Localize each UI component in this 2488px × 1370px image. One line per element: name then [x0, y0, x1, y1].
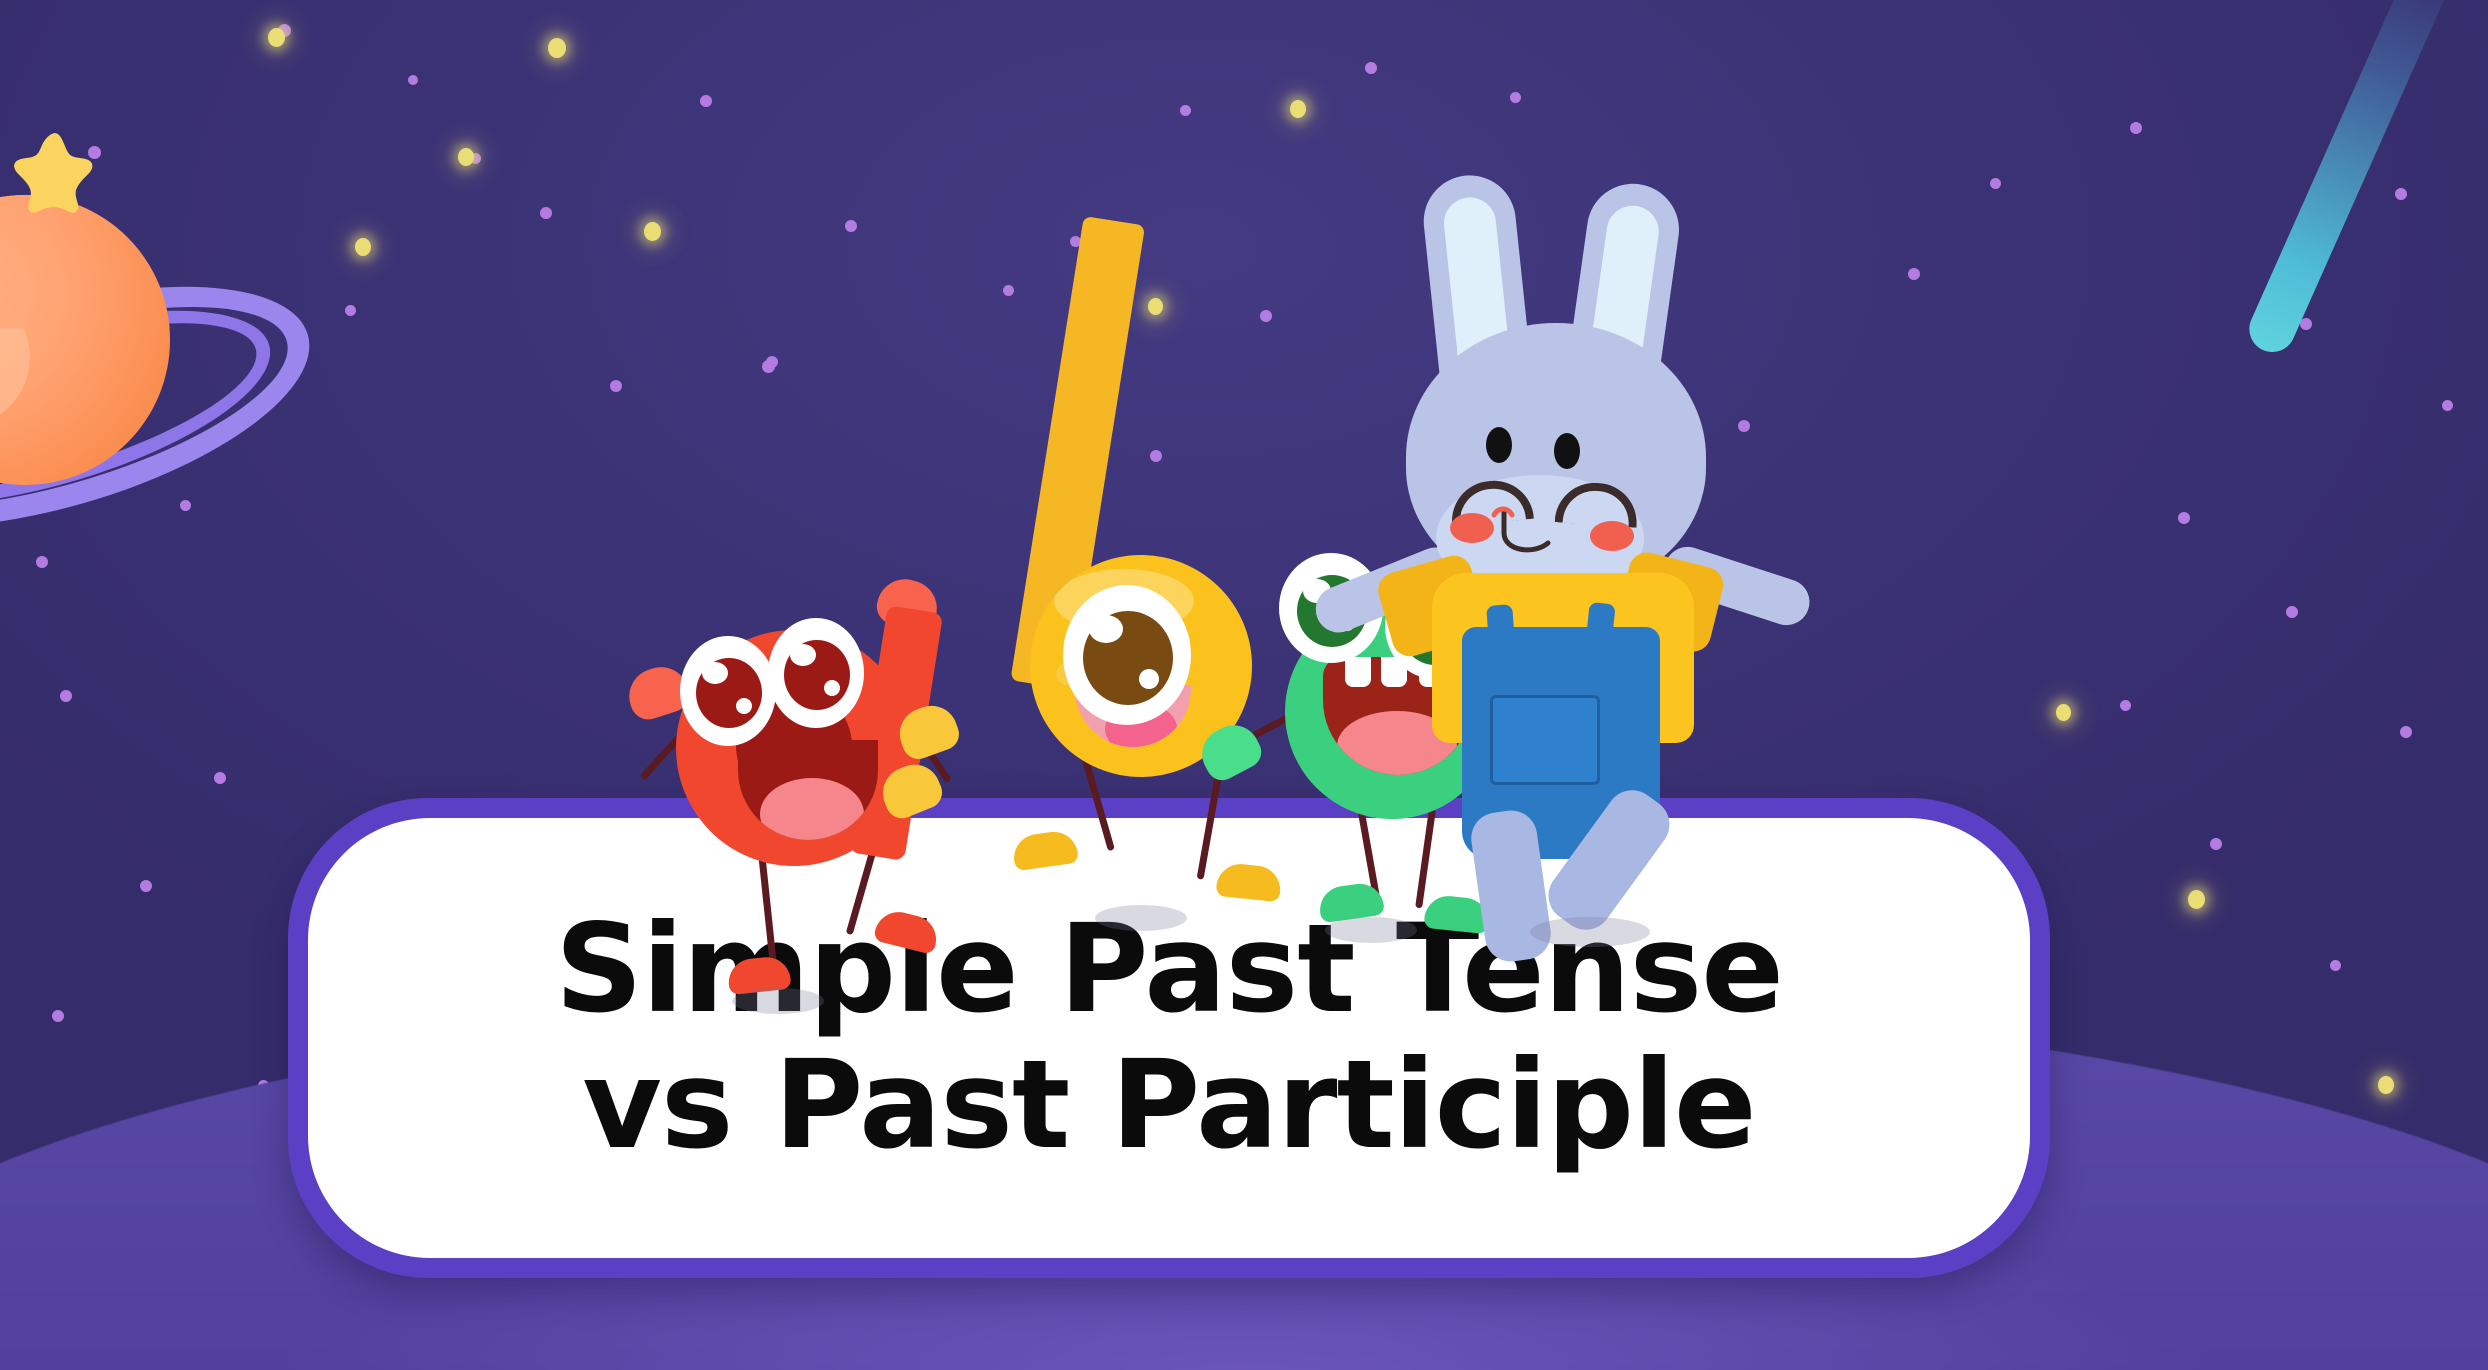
page-title-line-2: vs Past Participle	[582, 1040, 1755, 1172]
title-card: Simple Past Tense vs Past Participle	[288, 798, 2050, 1278]
title-card-inner: Simple Past Tense vs Past Participle	[308, 818, 2030, 1258]
planet-icon	[0, 195, 240, 555]
star-icon	[12, 128, 98, 214]
thumbnail-stage: Simple Past Tense vs Past Participle	[0, 0, 2488, 1370]
page-title-line-1: Simple Past Tense	[555, 904, 1783, 1036]
